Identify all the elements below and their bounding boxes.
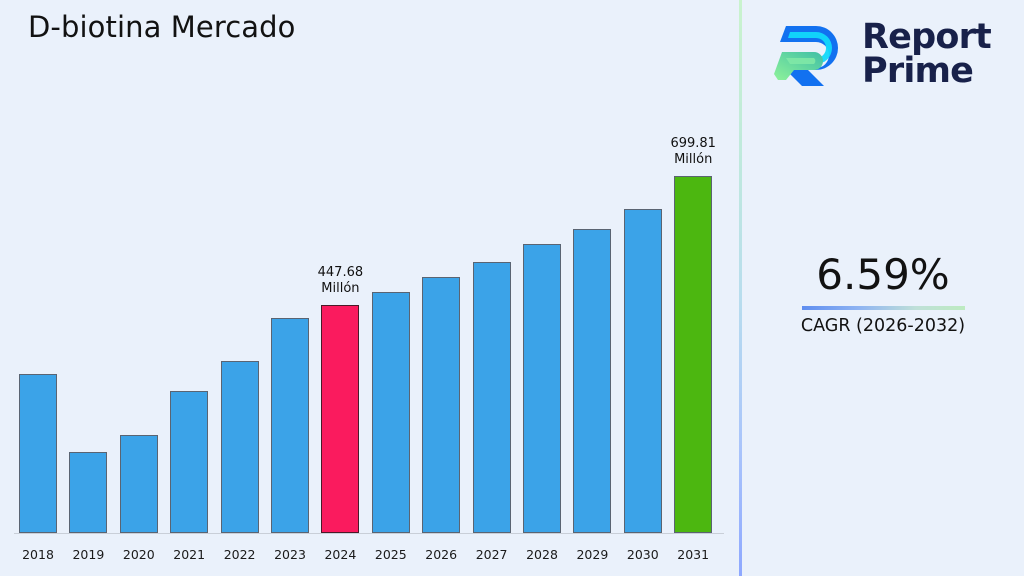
bar-chart-plot: 2018201920202021202220232024202520262027… bbox=[0, 0, 739, 576]
bar-2021[interactable] bbox=[170, 391, 208, 533]
logo-wordmark: Report Prime bbox=[862, 20, 991, 88]
x-tick-2031: 2031 bbox=[663, 547, 723, 562]
bar-2027[interactable] bbox=[473, 262, 511, 533]
report-prime-logo-icon bbox=[772, 18, 850, 90]
bar-2029[interactable] bbox=[573, 229, 611, 533]
bar-2020[interactable] bbox=[120, 435, 158, 533]
report-prime-logo: Report Prime bbox=[772, 12, 1004, 96]
chart-panel: D-biotina Mercado 2018201920202021202220… bbox=[0, 0, 739, 576]
bar-2018[interactable] bbox=[19, 374, 57, 533]
cagr-block: 6.59% CAGR (2026-2032) bbox=[742, 250, 1024, 338]
brand-panel: Report Prime 6.59% CAGR (2026-2032) bbox=[742, 0, 1024, 576]
bar-2024[interactable] bbox=[321, 305, 359, 533]
bar-2030[interactable] bbox=[624, 209, 662, 533]
chart-screenshot: D-biotina Mercado 2018201920202021202220… bbox=[0, 0, 1024, 576]
bar-value-label-2024: 447.68 Millón bbox=[285, 265, 395, 297]
logo-word-prime: Prime bbox=[862, 51, 973, 91]
bar-2031[interactable] bbox=[674, 176, 712, 533]
bar-2022[interactable] bbox=[221, 361, 259, 533]
bar-2025[interactable] bbox=[372, 292, 410, 533]
bar-2026[interactable] bbox=[422, 277, 460, 533]
bar-value-label-2031: 699.81 Millón bbox=[638, 136, 748, 168]
bar-2028[interactable] bbox=[523, 244, 561, 533]
bar-2023[interactable] bbox=[271, 318, 309, 533]
cagr-value: 6.59% bbox=[742, 250, 1024, 300]
x-axis-line bbox=[14, 533, 724, 534]
bar-2019[interactable] bbox=[69, 452, 107, 533]
cagr-caption: CAGR (2026-2032) bbox=[742, 314, 1024, 338]
cagr-divider-rule bbox=[802, 306, 965, 310]
